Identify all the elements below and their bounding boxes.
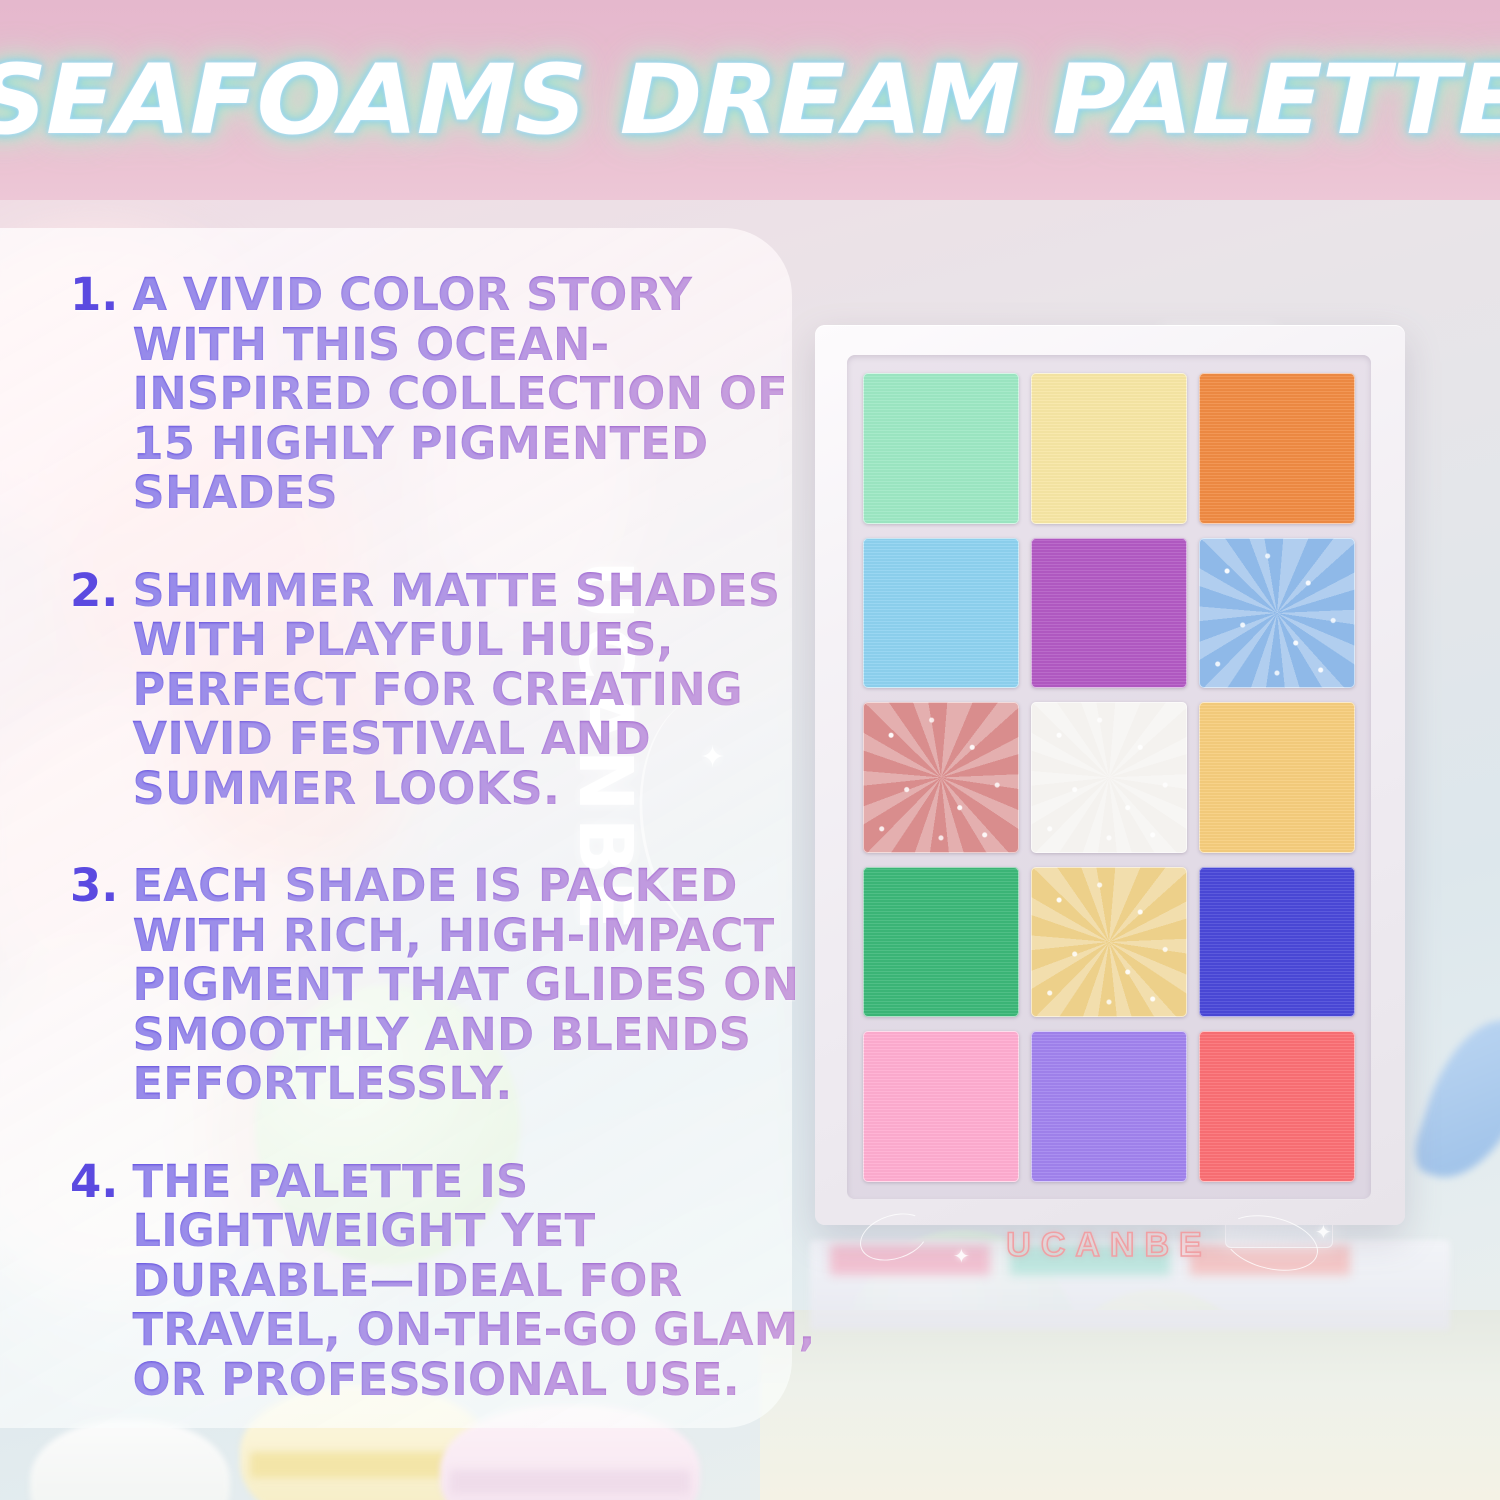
list-item: 3. EACH SHADE IS PACKED WITH RICH, HIGH-… — [70, 861, 830, 1109]
shade-pan[interactable] — [863, 538, 1019, 689]
list-item-text: SHIMMER MATTE SHADES WITH PLAYFUL HUES, … — [132, 566, 830, 814]
shade-pan[interactable] — [863, 373, 1019, 524]
shade-pan[interactable] — [1199, 1031, 1355, 1182]
eyeshadow-palette: ✦ ✦ UCANBE — [795, 300, 1435, 1310]
list-item: 1. A VIVID COLOR STORY WITH THIS OCEAN-I… — [70, 270, 830, 518]
shade-pan[interactable] — [863, 867, 1019, 1018]
shade-grid — [847, 355, 1371, 1200]
list-item-number: 1. — [70, 270, 118, 320]
shade-pan[interactable] — [1031, 867, 1187, 1018]
list-item: 2. SHIMMER MATTE SHADES WITH PLAYFUL HUE… — [70, 566, 830, 814]
sparkle-icon: ✦ — [1315, 1223, 1332, 1243]
palette-body: ✦ ✦ UCANBE — [815, 325, 1405, 1225]
list-item-number: 2. — [70, 566, 118, 616]
page-title: SEAFOAMS DREAM PALETTE — [0, 44, 1500, 156]
palette-base-branding: ✦ ✦ UCANBE — [853, 1213, 1365, 1277]
list-item: 4. THE PALETTE IS LIGHTWEIGHT YET DURABL… — [70, 1157, 830, 1405]
table-surface — [760, 1310, 1500, 1500]
feature-list: 1. A VIVID COLOR STORY WITH THIS OCEAN-I… — [70, 270, 830, 1452]
macaron-filling — [450, 1470, 690, 1494]
shade-pan[interactable] — [1031, 702, 1187, 853]
list-item-text: THE PALETTE IS LIGHTWEIGHT YET DURABLE—I… — [132, 1157, 830, 1405]
shade-pan[interactable] — [863, 702, 1019, 853]
shade-pan[interactable] — [1199, 538, 1355, 689]
shade-pan[interactable] — [1031, 1031, 1187, 1182]
list-item-number: 4. — [70, 1157, 118, 1207]
title-banner: SEAFOAMS DREAM PALETTE — [0, 0, 1500, 200]
shade-pan[interactable] — [1199, 373, 1355, 524]
shade-pan[interactable] — [863, 1031, 1019, 1182]
shade-pan[interactable] — [1031, 373, 1187, 524]
swirl-decoration-icon — [1218, 1206, 1324, 1280]
list-item-text: EACH SHADE IS PACKED WITH RICH, HIGH-IMP… — [132, 861, 830, 1109]
swirl-decoration-icon — [854, 1205, 934, 1268]
shade-pan[interactable] — [1031, 538, 1187, 689]
sparkle-icon: ✦ — [953, 1247, 970, 1267]
list-item-text: A VIVID COLOR STORY WITH THIS OCEAN-INSP… — [132, 270, 830, 518]
shade-pan[interactable] — [1199, 702, 1355, 853]
list-item-number: 3. — [70, 861, 118, 911]
brand-wordmark: UCANBE — [1006, 1226, 1211, 1265]
shade-pan[interactable] — [1199, 867, 1355, 1018]
